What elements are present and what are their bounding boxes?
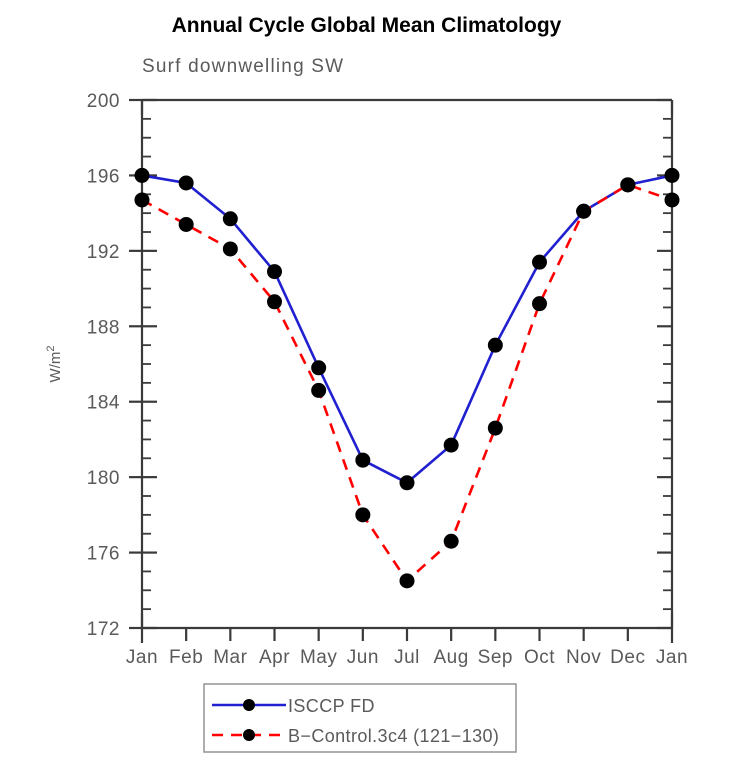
- x-tick-label: Mar: [213, 647, 247, 668]
- data-point-marker: [665, 168, 680, 183]
- legend-label: B−Control.3c4 (121−130): [288, 726, 499, 746]
- y-tick-label: 192: [87, 242, 120, 263]
- x-tick-label: Sep: [478, 647, 513, 668]
- x-axis-tick-labels: JanFebMarAprMayJunJulAugSepOctNovDecJan: [126, 647, 688, 668]
- x-tick-label: Nov: [566, 647, 601, 668]
- data-series-group: [135, 168, 680, 588]
- data-point-marker: [576, 204, 591, 219]
- data-point-marker: [135, 168, 150, 183]
- y-tick-label: 200: [87, 91, 120, 112]
- y-tick-label: 188: [87, 317, 120, 338]
- chart-figure: Annual Cycle Global Mean Climatology Sur…: [0, 0, 733, 764]
- x-tick-label: Apr: [259, 647, 290, 668]
- plot-svg: 200196192188184180176172 JanFebMarAprMay…: [0, 0, 733, 764]
- series-isccp-fd: [135, 168, 680, 490]
- series-line: [142, 175, 672, 482]
- x-tick-label: Jun: [347, 647, 379, 668]
- x-tick-label: Aug: [434, 647, 469, 668]
- data-point-marker: [488, 338, 503, 353]
- legend-label: ISCCP FD: [288, 696, 375, 716]
- y-axis-title: W/m2: [45, 346, 64, 383]
- data-point-marker: [179, 217, 194, 232]
- data-point-marker: [223, 241, 238, 256]
- data-point-marker: [355, 453, 370, 468]
- x-tick-label: Jan: [656, 647, 688, 668]
- y-axis-tick-labels: 200196192188184180176172: [87, 91, 120, 640]
- y-tick-label: 172: [87, 619, 120, 640]
- data-point-marker: [400, 573, 415, 588]
- data-point-marker: [532, 255, 547, 270]
- data-point-marker: [488, 421, 503, 436]
- y-tick-label: 184: [87, 393, 120, 414]
- data-point-marker: [223, 211, 238, 226]
- x-tick-label: Jan: [126, 647, 158, 668]
- data-point-marker: [665, 192, 680, 207]
- data-point-marker: [311, 383, 326, 398]
- x-tick-label: Feb: [169, 647, 203, 668]
- data-point-marker: [444, 534, 459, 549]
- data-point-marker: [135, 192, 150, 207]
- axes: [129, 100, 672, 643]
- data-point-marker: [400, 475, 415, 490]
- y-tick-label: 176: [87, 544, 120, 565]
- x-tick-label: May: [300, 647, 337, 668]
- legend-entry: B−Control.3c4 (121−130): [212, 726, 499, 746]
- x-tick-label: Jul: [394, 647, 420, 668]
- data-point-marker: [311, 360, 326, 375]
- x-tick-label: Dec: [610, 647, 645, 668]
- y-tick-label: 196: [87, 166, 120, 187]
- legend-entry: ISCCP FD: [212, 696, 375, 716]
- data-point-marker: [532, 296, 547, 311]
- y-axis-title-text: W/m2: [45, 346, 64, 383]
- legend: ISCCP FDB−Control.3c4 (121−130): [204, 684, 516, 752]
- legend-marker: [243, 699, 255, 711]
- data-point-marker: [444, 438, 459, 453]
- x-tick-label: Oct: [524, 647, 555, 668]
- data-point-marker: [355, 507, 370, 522]
- data-point-marker: [179, 175, 194, 190]
- legend-marker: [243, 729, 255, 741]
- series-line: [142, 185, 672, 581]
- data-point-marker: [620, 177, 635, 192]
- data-point-marker: [267, 264, 282, 279]
- y-tick-label: 180: [87, 468, 120, 489]
- series-b-control: [135, 177, 680, 588]
- data-point-marker: [267, 294, 282, 309]
